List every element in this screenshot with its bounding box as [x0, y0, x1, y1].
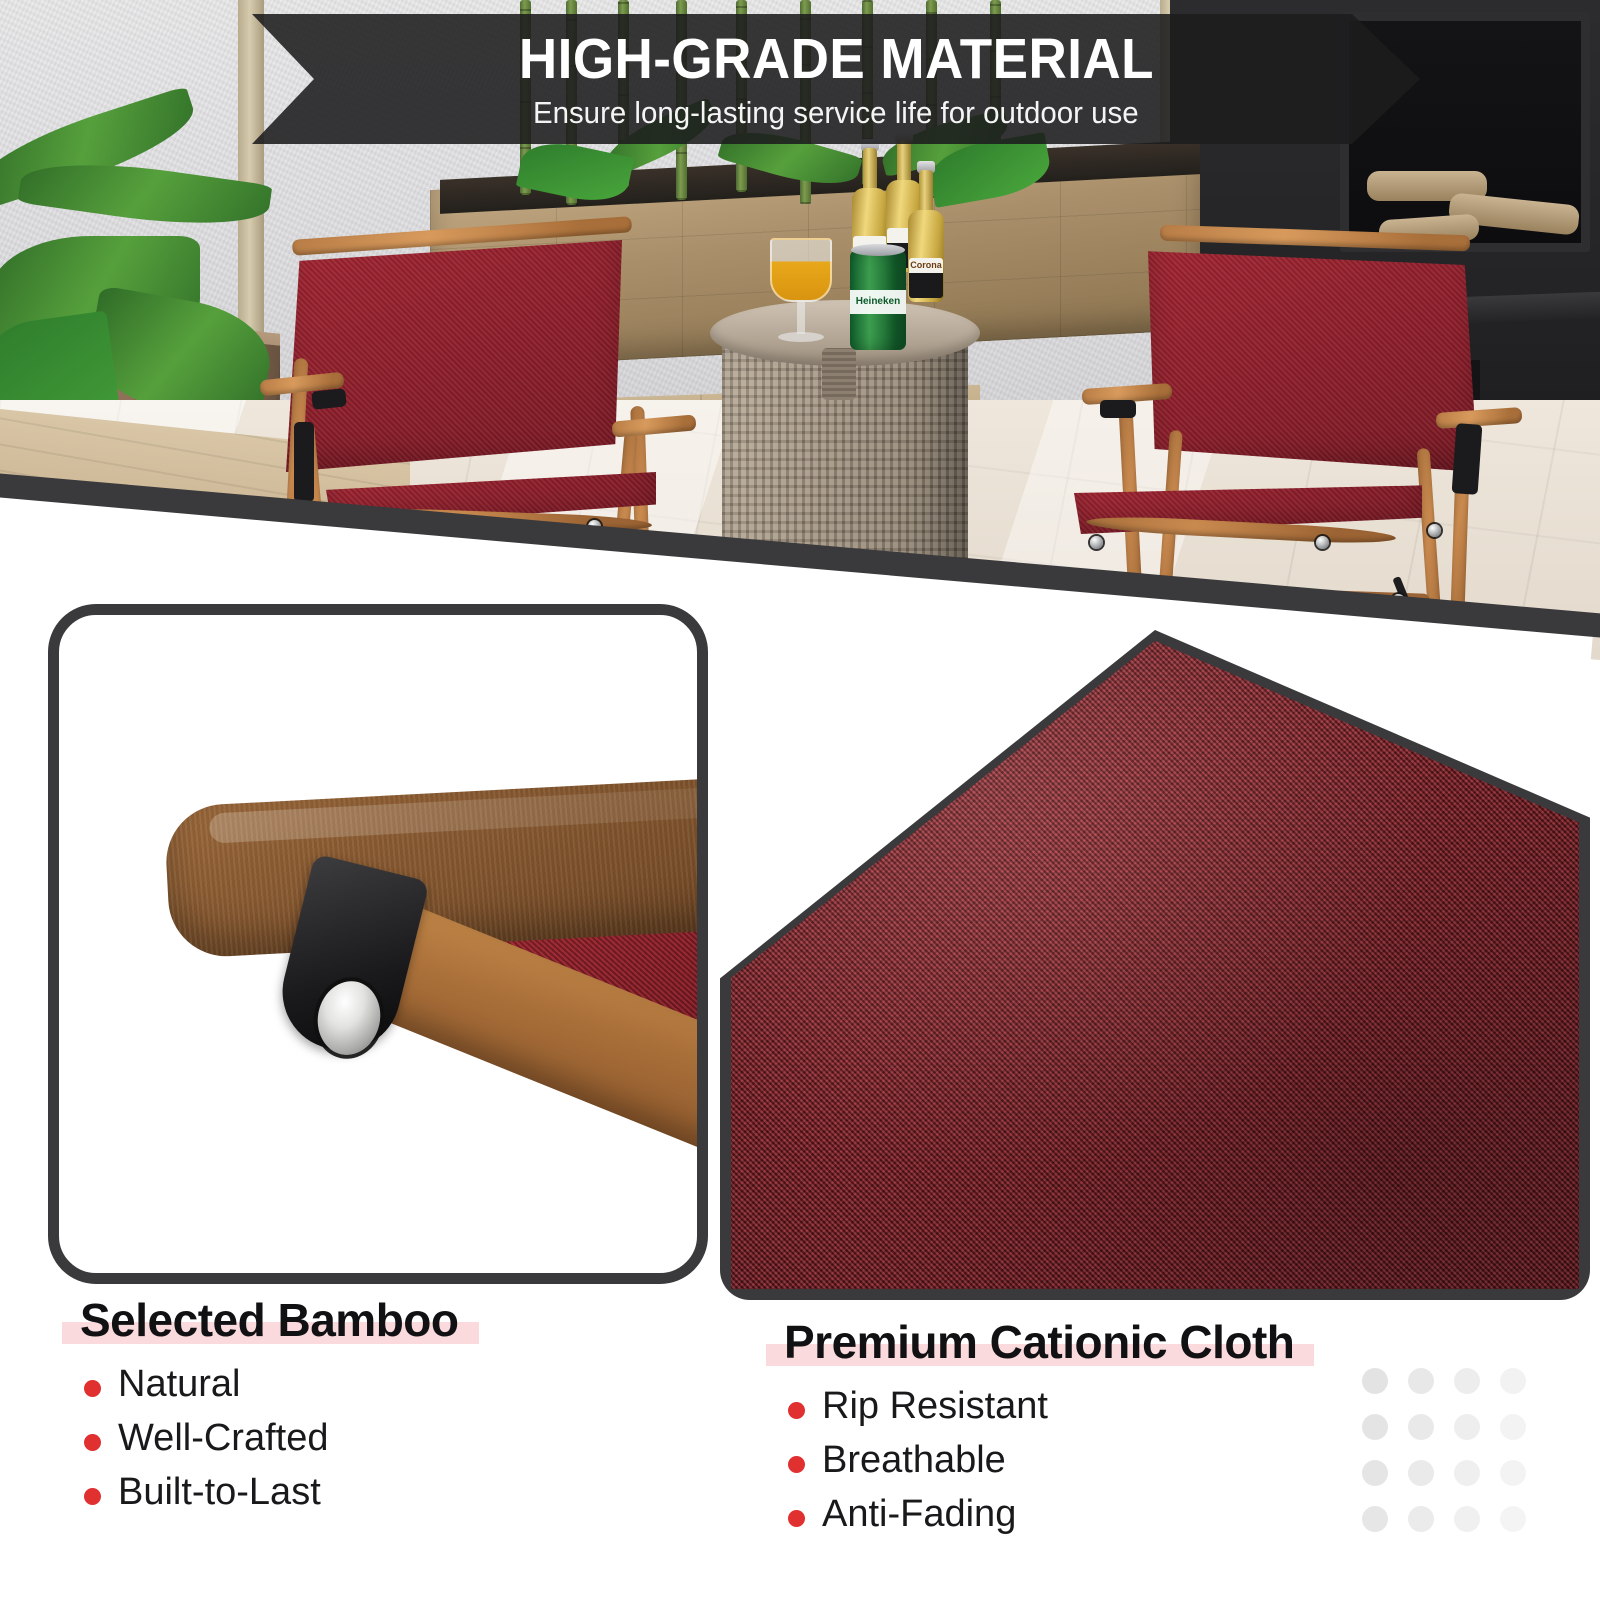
list-item: Natural: [78, 1358, 718, 1412]
armrest-hinge: [1100, 400, 1136, 418]
beer-can-heineken: Heineken: [850, 250, 906, 350]
grid-dot: [1500, 1506, 1526, 1532]
glass-stem: [797, 300, 805, 334]
feature-heading-text: Premium Cationic Cloth: [784, 1316, 1294, 1368]
grid-dot: [1500, 1460, 1526, 1486]
can-top: [851, 244, 905, 256]
list-item: Rip Resistant: [782, 1380, 1482, 1434]
list-item: Anti-Fading: [782, 1488, 1482, 1542]
cooler-latch: [822, 348, 856, 400]
feature-list-cloth: Rip Resistant Breathable Anti-Fading: [782, 1380, 1482, 1542]
list-item-label: Built-to-Last: [118, 1471, 321, 1513]
bottle-label-corona: Corona: [909, 258, 943, 298]
feature-list-bamboo: Natural Well-Crafted Built-to-Last: [78, 1358, 718, 1520]
bamboo-detail-panel: [48, 604, 708, 1284]
bullet-dot-icon: [84, 1380, 101, 1397]
grid-dot: [1500, 1368, 1526, 1394]
grid-dot: [1500, 1414, 1526, 1440]
bullet-dot-icon: [788, 1510, 805, 1527]
armrest-hinge: [294, 422, 314, 502]
list-item-label: Rip Resistant: [822, 1385, 1048, 1427]
bullet-dot-icon: [84, 1488, 101, 1505]
list-item-label: Breathable: [822, 1439, 1006, 1481]
feature-heading-text: Selected Bamboo: [80, 1294, 459, 1346]
armrest-hinge: [1452, 423, 1483, 495]
glass-base: [778, 332, 824, 342]
chair-canvas-back: [1148, 242, 1478, 472]
woven-fabric-closeup: [731, 641, 1579, 1289]
banner-title: HIGH-GRADE MATERIAL: [518, 31, 1153, 88]
chair-rivet: [1428, 524, 1441, 537]
armrest-hinge: [311, 388, 347, 409]
feature-heading-cloth: Premium Cationic Cloth: [782, 1318, 1298, 1368]
banner-subtitle: Ensure long-lasting service life for out…: [533, 97, 1139, 128]
bullet-dot-icon: [788, 1456, 805, 1473]
chair-rivet: [1090, 536, 1103, 549]
feature-block-cloth: Premium Cationic Cloth Rip Resistant Bre…: [782, 1318, 1482, 1542]
chair-rivet: [1316, 536, 1329, 549]
list-item: Well-Crafted: [78, 1412, 718, 1466]
list-item-label: Natural: [118, 1363, 241, 1405]
product-feature-graphic: Corona Heineken HIGH-GRADE MATERIAL Ensu…: [0, 0, 1600, 1600]
list-item: Built-to-Last: [78, 1466, 718, 1520]
cationic-cloth-panel: [720, 630, 1590, 1300]
header-banner: HIGH-GRADE MATERIAL Ensure long-lasting …: [252, 14, 1420, 144]
feature-block-bamboo: Selected Bamboo Natural Well-Crafted Bui…: [78, 1296, 718, 1520]
bullet-dot-icon: [788, 1402, 805, 1419]
list-item: Breathable: [782, 1434, 1482, 1488]
bullet-dot-icon: [84, 1434, 101, 1451]
beer-glass: [770, 238, 832, 348]
can-label: Heineken: [850, 290, 906, 314]
glass-bowl: [770, 238, 832, 302]
chair-armrest: [611, 414, 696, 437]
list-item-label: Anti-Fading: [822, 1493, 1016, 1535]
chair-canvas-back: [286, 240, 622, 472]
feature-heading-bamboo: Selected Bamboo: [78, 1296, 463, 1346]
list-item-label: Well-Crafted: [118, 1417, 328, 1459]
chair-top-rail: [1160, 225, 1470, 252]
